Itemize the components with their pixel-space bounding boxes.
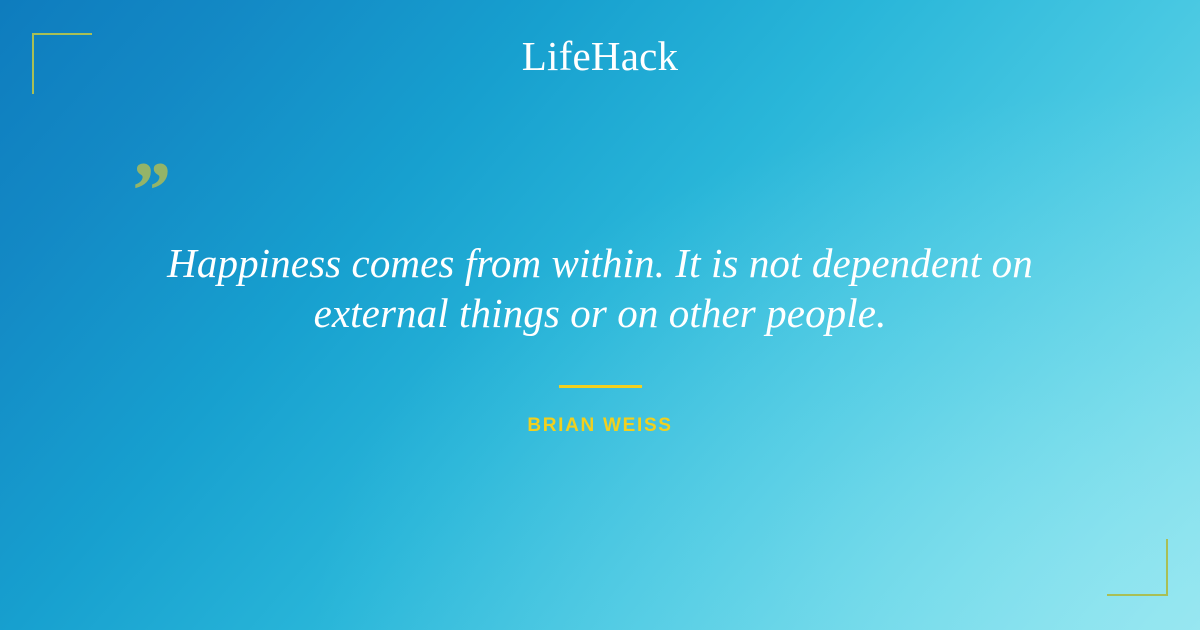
quotation-mark-icon: ” — [128, 150, 169, 232]
author-name: BRIAN WEISS — [0, 415, 1200, 437]
quote-block: Happiness comes from within. It is not d… — [100, 238, 1100, 338]
author-divider — [559, 385, 642, 388]
quote-text: Happiness comes from within. It is not d… — [100, 238, 1100, 338]
author-block: BRIAN WEISS — [0, 415, 1200, 437]
quote-card: LifeHack ” Happiness comes from within. … — [0, 0, 1200, 630]
brand-logo-text: LifeHack — [522, 36, 678, 77]
brand-logo[interactable]: LifeHack — [0, 36, 1200, 77]
